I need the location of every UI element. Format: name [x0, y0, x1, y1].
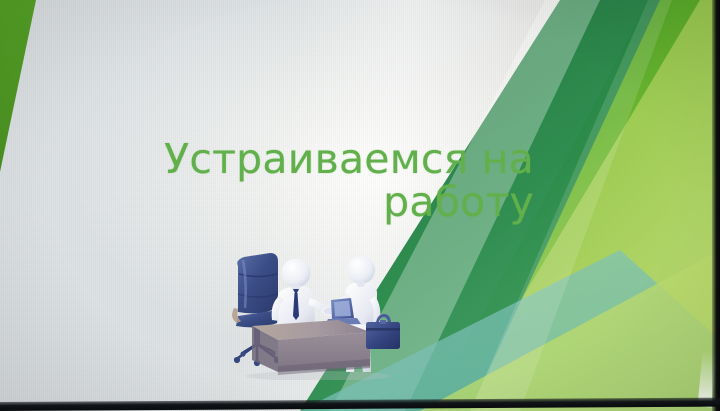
- slide-title-line-1: Устраиваемся на: [150, 138, 534, 181]
- slide-title-line-2: работу: [150, 181, 534, 224]
- job-interview-handshake-clipart: [218, 248, 418, 380]
- figure-seated-interviewer: [272, 259, 330, 328]
- desk: [252, 320, 370, 375]
- photo-right-dark-edge: [712, 0, 720, 411]
- projector-screen-photo: Устраиваемся на работу: [0, 0, 720, 411]
- slide-title: Устраиваемся на работу: [150, 138, 534, 223]
